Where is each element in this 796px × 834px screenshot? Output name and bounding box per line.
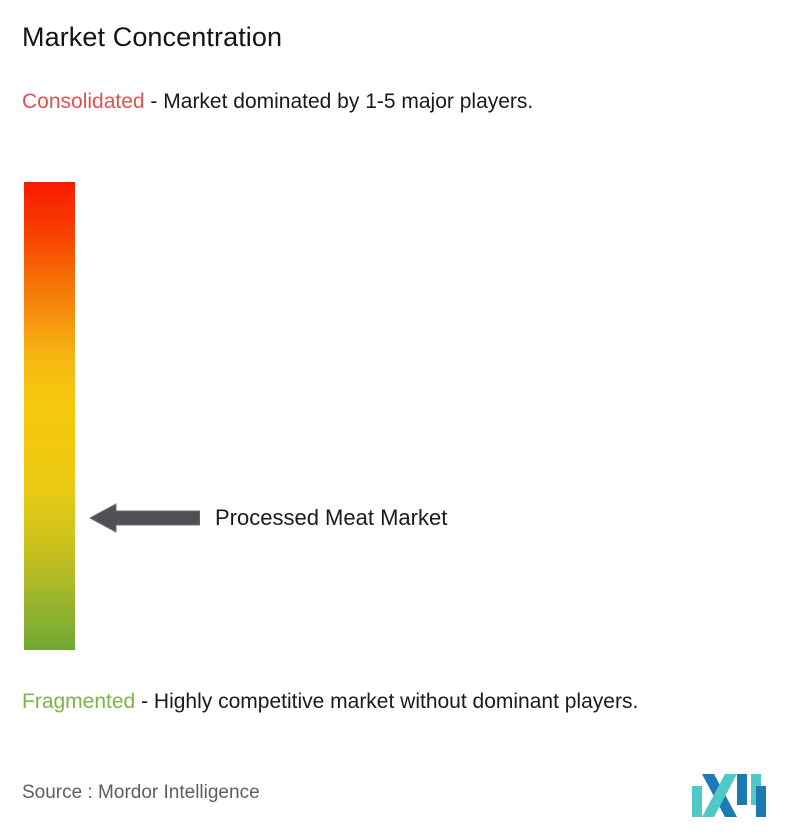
keyword-fragmented: Fragmented <box>22 690 135 713</box>
page-title: Market Concentration <box>22 22 282 53</box>
caption-fragmented-text: Highly competitive market without domina… <box>154 690 638 713</box>
caption-consolidated-separator: - <box>145 90 164 113</box>
source-label: Source : <box>22 782 93 803</box>
market-position-pointer: Processed Meat Market <box>90 500 447 536</box>
caption-consolidated-text: Market dominated by 1-5 major players. <box>163 90 533 113</box>
source-note: Source : Mordor Intelligence <box>22 782 260 804</box>
caption-fragmented: Fragmented - Highly competitive market w… <box>22 686 787 717</box>
pointer-label: Processed Meat Market <box>215 505 447 531</box>
keyword-consolidated: Consolidated <box>22 90 145 113</box>
mordor-intelligence-logo-icon <box>692 772 766 817</box>
caption-fragmented-separator: - <box>135 690 154 713</box>
market-concentration-gradient-bar <box>24 182 75 650</box>
source-value: Mordor Intelligence <box>98 782 260 803</box>
caption-consolidated: Consolidated - Market dominated by 1-5 m… <box>22 86 767 117</box>
left-arrow-icon <box>90 500 200 536</box>
